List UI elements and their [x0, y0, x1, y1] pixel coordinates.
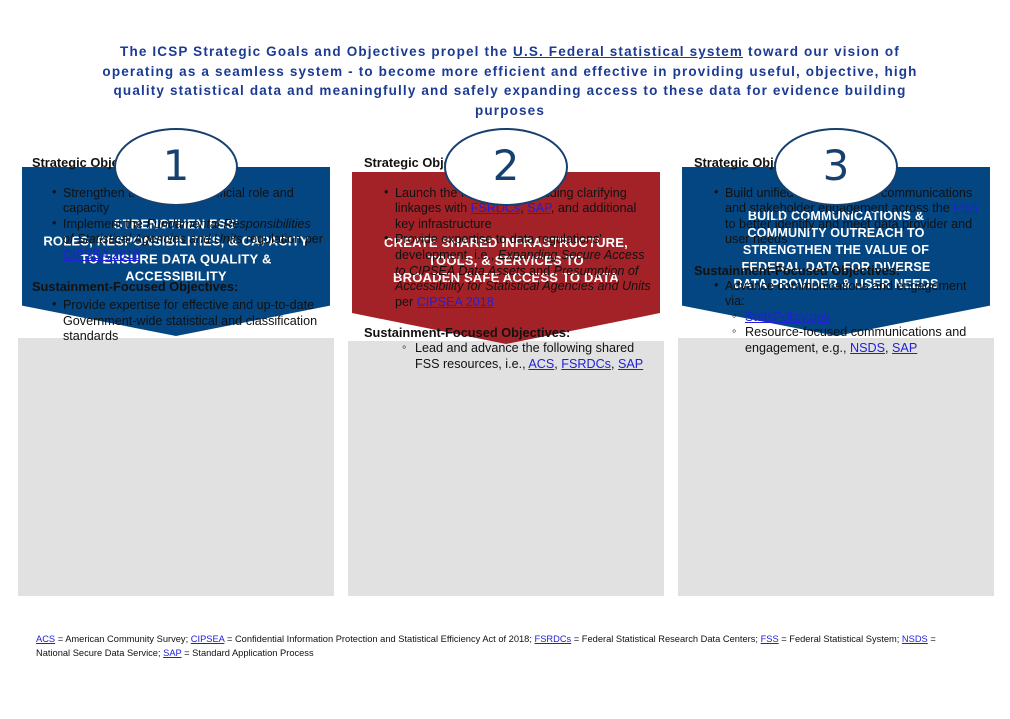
goal-3-number-badge: 3	[774, 128, 898, 206]
body-text: and	[526, 264, 554, 278]
inline-link[interactable]: CIPSEA 2018	[63, 248, 140, 262]
goal-1-content-panel	[18, 338, 334, 596]
body-text: Implement the	[63, 217, 146, 231]
inline-link[interactable]: SAP	[527, 201, 551, 215]
abbreviation-link[interactable]: ACS	[36, 634, 55, 644]
goal-2-number-badge: 2	[444, 128, 568, 206]
abbreviation-link[interactable]: CIPSEA	[191, 634, 225, 644]
federal-statistical-system-link[interactable]: U.S. Federal statistical system	[513, 44, 743, 59]
body-text: Advance communications and engagement vi…	[725, 279, 967, 309]
inline-link[interactable]: StatsPolicy.gov	[745, 310, 830, 324]
goal-1-sustainment-list: Provide expertise for effective and up-t…	[32, 298, 324, 345]
list-item: Implement the Fundamental Responsibiliti…	[52, 217, 324, 264]
goal-2-content-panel	[348, 341, 664, 596]
abbreviation-link[interactable]: SAP	[163, 648, 181, 658]
abbreviation-definition: = Confidential Information Protection an…	[224, 634, 534, 644]
list-item: Advance communications and engagement vi…	[714, 279, 984, 310]
goal-2-number: 2	[493, 145, 520, 190]
inline-link[interactable]: ACS	[528, 357, 554, 371]
goal-3-content-panel	[678, 338, 994, 596]
body-text: ,	[611, 357, 618, 371]
headline-text-before: The ICSP Strategic Goals and Objectives …	[120, 44, 513, 59]
list-item: Provide expertise for effective and up-t…	[52, 298, 324, 345]
list-item: StatsPolicy.gov	[732, 310, 984, 326]
goal-3-sustainment-title: Sustainment-Focused Objectives:	[694, 263, 984, 279]
list-item: Lead and advance the following shared FS…	[402, 341, 654, 372]
goal-2-sustainment-list: Lead and advance the following shared FS…	[364, 341, 654, 372]
body-text: Provide expertise for effective and up-t…	[63, 298, 317, 343]
abbreviation-definition: = Federal Statistical Research Data Cent…	[571, 634, 760, 644]
goal-1-number: 1	[163, 145, 190, 190]
abbreviation-link[interactable]: FSS	[761, 634, 779, 644]
goal-column-3: BUILD COMMUNICATIONS &COMMUNITY OUTREACH…	[678, 128, 994, 598]
abbreviation-legend: ACS = American Community Survey; CIPSEA …	[36, 633, 936, 660]
goal-3-number: 3	[823, 145, 850, 190]
body-text: per	[395, 295, 417, 309]
goal-2-sustainment-title: Sustainment-Focused Objectives:	[364, 325, 654, 341]
inline-link[interactable]: FSS	[953, 201, 978, 215]
inline-link[interactable]: FSRDCs	[561, 357, 611, 371]
goal-1-sustainment-title: Sustainment-Focused Objectives:	[32, 279, 324, 295]
inline-link[interactable]: SAP	[892, 341, 917, 355]
goal-3-sustainment-list: Advance communications and engagement vi…	[694, 279, 984, 310]
inline-link[interactable]: SAP	[618, 357, 643, 371]
abbreviation-link[interactable]: FSRDCs	[535, 634, 572, 644]
body-text: ,	[885, 341, 892, 355]
abbreviation-link[interactable]: NSDS	[902, 634, 928, 644]
goal-column-2: CREATE SHARED INFRASTRUCTURE,TOOLS, & SE…	[348, 128, 664, 598]
goal-3-sustainment-sublist: StatsPolicy.govResource-focused communic…	[694, 310, 984, 357]
body-text: regulation per	[242, 232, 323, 246]
goal-column-1: STRENGTHEN FSS'ROLES, RESPONSIBILITIES, …	[18, 128, 334, 598]
page-headline: The ICSP Strategic Goals and Objectives …	[95, 42, 925, 120]
abbreviation-definition: = Standard Application Process	[182, 648, 314, 658]
list-item: Provide expertise to data regulations' d…	[384, 232, 654, 310]
inline-link[interactable]: CIPSEA 2018	[417, 295, 494, 309]
body-text: to better identify and meet data provide…	[725, 217, 972, 247]
inline-link[interactable]: NSDS	[850, 341, 885, 355]
list-item: Resource-focused communications and enga…	[732, 325, 984, 356]
goal-1-number-badge: 1	[114, 128, 238, 206]
abbreviation-definition: = American Community Survey;	[55, 634, 191, 644]
abbreviation-definition: = Federal Statistical System;	[779, 634, 902, 644]
